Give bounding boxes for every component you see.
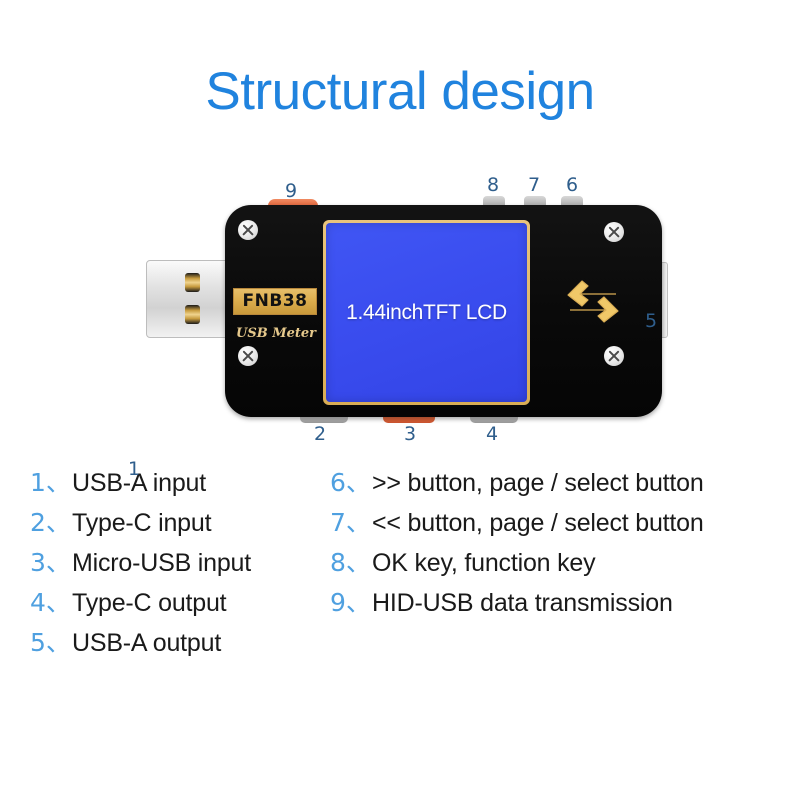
- brand-subtitle: USB Meter: [233, 326, 319, 341]
- legend-number-2: 2、: [30, 510, 72, 535]
- lcd-bezel: 1.44inchTFT LCD: [323, 220, 530, 405]
- legend-label-5: USB-A output: [72, 631, 221, 656]
- usb-contact-pad-upper: [185, 273, 200, 292]
- legend-item-1: 1、 USB-A input: [30, 470, 330, 510]
- screw-icon-top-left: [238, 220, 258, 240]
- legend-item-6: 6、 >> button, page / select button: [330, 470, 790, 510]
- callout-4: 4: [486, 425, 498, 444]
- device-diagram: FNB38 USB Meter 1.44inchTFT LCD 1 2 3 4 …: [0, 160, 800, 460]
- page-title: Structural design: [0, 64, 800, 120]
- callout-8: 8: [487, 176, 499, 195]
- bidirectional-arrows-icon: [566, 278, 620, 326]
- legend-label-4: Type-C output: [72, 591, 226, 616]
- legend-number-7: 7、: [330, 510, 372, 535]
- legend-item-4: 4、 Type-C output: [30, 590, 330, 630]
- screw-icon-top-right: [604, 222, 624, 242]
- screw-icon-bottom-left: [238, 346, 258, 366]
- legend-label-9: HID-USB data transmission: [372, 591, 673, 616]
- legend-column-right: 6、 >> button, page / select button 7、 <<…: [330, 470, 790, 630]
- callout-9: 9: [285, 182, 297, 201]
- brand-badge: FNB38: [233, 288, 317, 315]
- callout-1: 1: [128, 460, 140, 479]
- legend-label-2: Type-C input: [72, 511, 211, 536]
- legend-label-7: << button, page / select button: [372, 511, 704, 536]
- legend-column-left: 1、 USB-A input 2、 Type-C input 3、 Micro-…: [30, 470, 330, 670]
- legend-number-6: 6、: [330, 470, 372, 495]
- usb-a-input-plug: [146, 260, 234, 338]
- lcd-screen: 1.44inchTFT LCD: [326, 223, 527, 402]
- legend-item-8: 8、 OK key, function key: [330, 550, 790, 590]
- legend-label-6: >> button, page / select button: [372, 471, 704, 496]
- usb-contact-pad-lower: [185, 305, 200, 324]
- legend-number-1: 1、: [30, 470, 72, 495]
- callout-3: 3: [404, 425, 416, 444]
- lcd-screen-label: 1.44inchTFT LCD: [346, 301, 507, 325]
- legend-item-5: 5、 USB-A output: [30, 630, 330, 670]
- legend: 1、 USB-A input 2、 Type-C input 3、 Micro-…: [0, 470, 800, 700]
- callout-6: 6: [566, 176, 578, 195]
- legend-number-4: 4、: [30, 590, 72, 615]
- legend-number-8: 8、: [330, 550, 372, 575]
- legend-item-9: 9、 HID-USB data transmission: [330, 590, 790, 630]
- legend-item-7: 7、 << button, page / select button: [330, 510, 790, 550]
- callout-2: 2: [314, 425, 326, 444]
- legend-label-8: OK key, function key: [372, 551, 595, 576]
- screw-icon-bottom-right: [604, 346, 624, 366]
- callout-5: 5: [645, 312, 657, 331]
- legend-number-5: 5、: [30, 630, 72, 655]
- legend-label-3: Micro-USB input: [72, 551, 251, 576]
- legend-number-9: 9、: [330, 590, 372, 615]
- legend-item-3: 3、 Micro-USB input: [30, 550, 330, 590]
- brand-badge-label: FNB38: [243, 293, 308, 310]
- callout-7: 7: [528, 176, 540, 195]
- legend-number-3: 3、: [30, 550, 72, 575]
- legend-item-2: 2、 Type-C input: [30, 510, 330, 550]
